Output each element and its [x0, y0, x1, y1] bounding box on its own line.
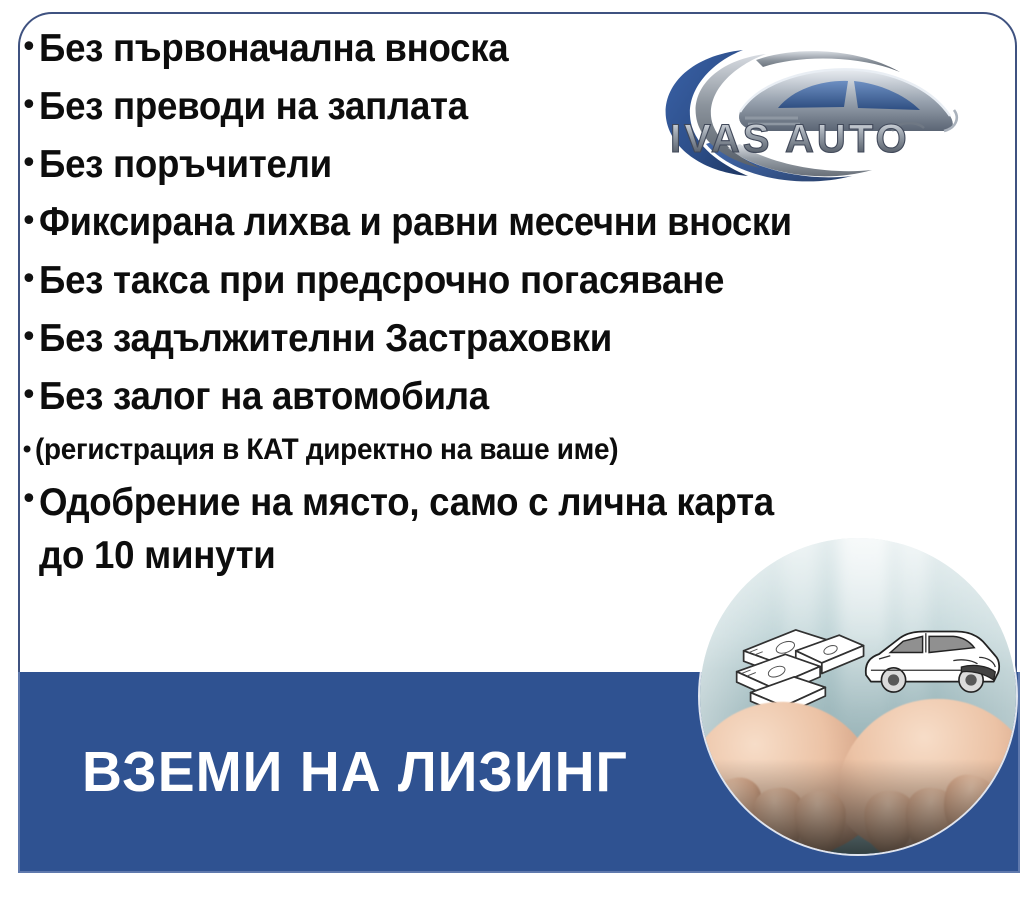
bullet-icon: •: [20, 476, 39, 524]
benefit-label: (регистрация в КАТ директно на ваше име): [35, 430, 618, 470]
leasing-poster: • Без първоначална вноска • Без преводи …: [0, 0, 1033, 902]
bullet-icon: •: [20, 198, 39, 246]
benefit-label: Фиксирана лихва и равни месечни вноски: [39, 198, 792, 247]
car-sketch: [858, 614, 1003, 709]
bullet-icon: •: [20, 140, 39, 188]
benefit-item-registration-note: • (регистрация в КАТ директно на ваше им…: [20, 430, 980, 470]
money-stacks-sketch: [728, 611, 867, 718]
photo-bottom-shadow: [700, 759, 1016, 854]
bullet-icon: •: [20, 82, 39, 130]
benefit-label: Без поръчители: [39, 140, 332, 189]
benefit-label: Без такса при предсрочно погасяване: [39, 256, 724, 305]
benefit-item-no-early-repayment-fee: • Без такса при предсрочно погасяване: [20, 256, 980, 305]
bullet-icon: •: [20, 430, 35, 470]
bullet-icon: •: [20, 372, 39, 420]
benefit-item-no-car-pledge: • Без залог на автомобила: [20, 372, 980, 421]
benefit-label: Без преводи на заплата: [39, 82, 468, 131]
benefit-label: Одобрение на място, само с лична карта д…: [39, 476, 774, 582]
bullet-icon: •: [20, 256, 39, 304]
logo-wordmark: IVAS AUTO: [670, 117, 910, 161]
benefit-label: Без залог на автомобила: [39, 372, 489, 421]
ivas-auto-logo: IVAS AUTO: [648, 36, 988, 186]
bullet-icon: •: [20, 314, 39, 362]
benefit-item-fixed-interest: • Фиксирана лихва и равни месечни вноски: [20, 198, 980, 247]
cta-label: ВЗЕМИ НА ЛИЗИНГ: [82, 741, 628, 803]
benefit-label: Без задължителни Застраховки: [39, 314, 612, 363]
benefit-item-no-mandatory-insurance: • Без задължителни Застраховки: [20, 314, 980, 363]
benefit-label: Без първоначална вноска: [39, 24, 508, 73]
bullet-icon: •: [20, 24, 39, 72]
hands-holding-money-and-car-photo: [700, 538, 1016, 854]
